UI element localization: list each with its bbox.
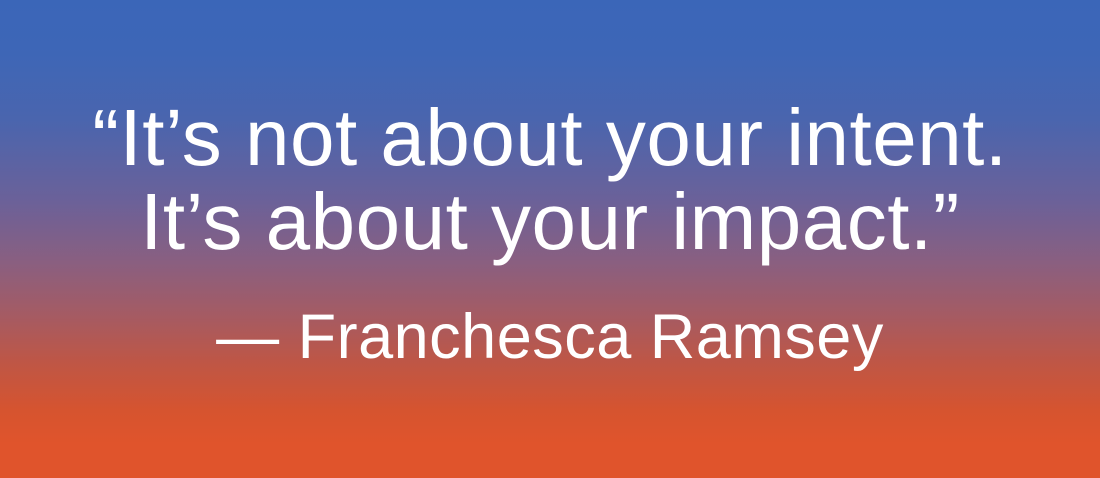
quote-line-1: “It’s not about your intent. [0, 96, 1100, 180]
quote-text-block: “It’s not about your intent. It’s about … [0, 96, 1100, 372]
quote-attribution: — Franchesca Ramsey [0, 302, 1100, 372]
quote-line-2: It’s about your impact.” [0, 180, 1100, 264]
quote-card: “It’s not about your intent. It’s about … [0, 0, 1100, 478]
